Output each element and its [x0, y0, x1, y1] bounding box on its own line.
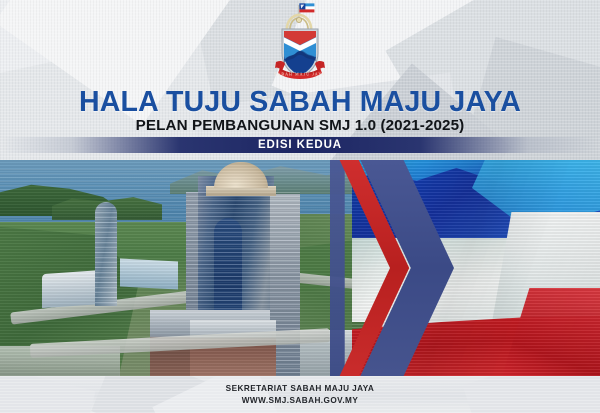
kota-kinabalu-aerial-photo: [0, 160, 380, 376]
footer-website[interactable]: WWW.SMJ.SABAH.GOV.MY: [0, 395, 600, 407]
page-title: HALA TUJU SABAH MAJU JAYA: [0, 86, 600, 119]
page-subtitle: PELAN PEMBANGUNAN SMJ 1.0 (2021-2025): [0, 117, 600, 134]
publication-cover: SABAH MAJU JAYA HALA TUJU SABAH MAJU JAY…: [0, 0, 600, 413]
edition-badge: EDISI KEDUA: [0, 137, 600, 153]
sabah-state-crest-icon: SABAH MAJU JAYA: [272, 1, 328, 85]
crest-motto-text: SABAH MAJU JAYA: [274, 72, 326, 77]
cover-footer: SEKRETARIAT SABAH MAJU JAYA WWW.SMJ.SABA…: [0, 376, 600, 413]
cover-imagery-band: [0, 160, 600, 376]
footer-organisation: SEKRETARIAT SABAH MAJU JAYA: [0, 383, 600, 395]
edition-badge-label: EDISI KEDUA: [258, 139, 342, 151]
